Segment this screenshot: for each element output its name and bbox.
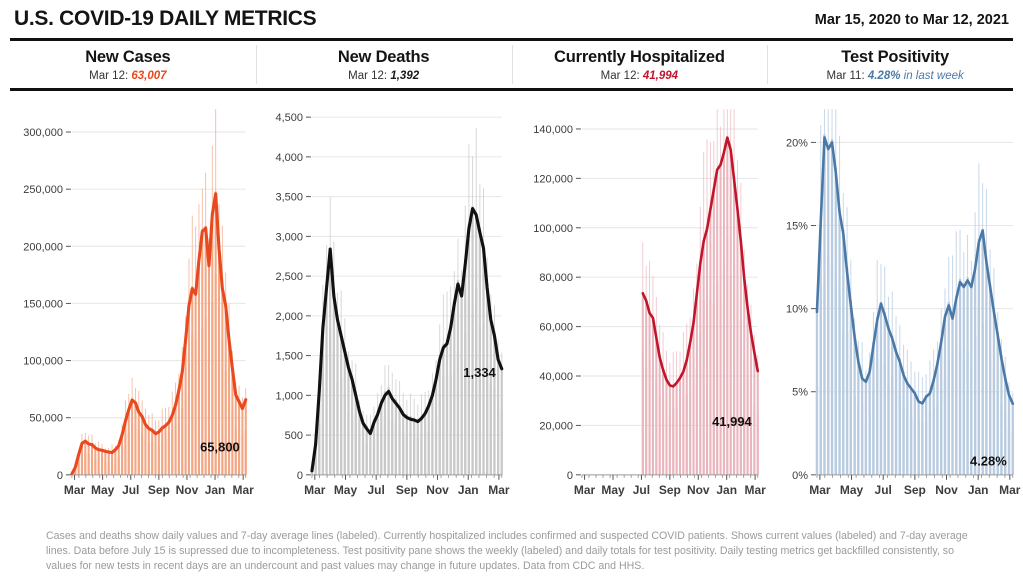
svg-text:4,500: 4,500: [275, 112, 302, 124]
svg-text:Jul: Jul: [367, 482, 384, 496]
svg-text:100,000: 100,000: [23, 355, 63, 367]
svg-text:May: May: [601, 482, 625, 496]
date-range-label: Mar 15, 2020 to Mar 12, 2021: [815, 12, 1009, 30]
panel-subtitle-date: Mar 12:: [601, 70, 640, 82]
svg-text:Mar: Mar: [744, 482, 766, 496]
svg-text:500: 500: [284, 430, 302, 442]
svg-text:Jul: Jul: [632, 482, 649, 496]
panel-header-test-positivity: Test Positivity Mar 11: 4.28% in last we…: [767, 41, 1023, 88]
svg-text:50,000: 50,000: [29, 412, 63, 424]
panel-title: Test Positivity: [767, 48, 1023, 67]
svg-text:0%: 0%: [792, 469, 808, 481]
svg-text:Sep: Sep: [148, 482, 170, 496]
chart-test-positivity[interactable]: 0%5%10%15%20%MarMayJulSepNovJanMar4.28%: [767, 91, 1023, 511]
svg-text:140,000: 140,000: [533, 123, 573, 135]
svg-text:Sep: Sep: [658, 482, 680, 496]
panel-header-new-cases: New Cases Mar 12: 63,007: [0, 41, 256, 88]
svg-text:41,994: 41,994: [712, 414, 752, 429]
svg-text:2,000: 2,000: [275, 310, 302, 322]
panel-title: Currently Hospitalized: [512, 48, 768, 67]
svg-text:4.28%: 4.28%: [970, 453, 1007, 468]
svg-text:Mar: Mar: [64, 482, 86, 496]
svg-text:0: 0: [566, 469, 572, 481]
svg-text:Nov: Nov: [935, 482, 958, 496]
svg-text:100,000: 100,000: [533, 222, 573, 234]
svg-text:Jan: Jan: [716, 482, 737, 496]
svg-text:Nov: Nov: [176, 482, 199, 496]
svg-text:Sep: Sep: [904, 482, 926, 496]
dashboard-root: U.S. COVID-19 DAILY METRICS Mar 15, 2020…: [0, 0, 1023, 578]
svg-text:Mar: Mar: [999, 482, 1021, 496]
svg-text:Jan: Jan: [968, 482, 989, 496]
panel-subtitle-suffix: in last week: [900, 70, 963, 82]
svg-text:Jan: Jan: [205, 482, 226, 496]
svg-text:Jul: Jul: [875, 482, 892, 496]
svg-text:Nov: Nov: [426, 482, 449, 496]
charts-row: 050,000100,000150,000200,000250,000300,0…: [0, 91, 1023, 511]
svg-text:Mar: Mar: [304, 482, 326, 496]
panel-header-currently-hospitalized: Currently Hospitalized Mar 12: 41,994: [512, 41, 768, 88]
svg-text:65,800: 65,800: [200, 439, 240, 454]
svg-text:20%: 20%: [786, 137, 808, 149]
chart-new-cases[interactable]: 050,000100,000150,000200,000250,000300,0…: [0, 91, 256, 511]
svg-text:4,000: 4,000: [275, 151, 302, 163]
panel-subtitle-value: 41,994: [643, 70, 678, 82]
svg-text:Jan: Jan: [458, 482, 479, 496]
svg-text:80,000: 80,000: [539, 272, 573, 284]
svg-text:Nov: Nov: [686, 482, 709, 496]
svg-text:0: 0: [57, 469, 63, 481]
svg-text:60,000: 60,000: [539, 321, 573, 333]
svg-text:150,000: 150,000: [23, 298, 63, 310]
svg-text:300,000: 300,000: [23, 127, 63, 139]
chart-new-deaths[interactable]: 05001,0001,5002,0002,5003,0003,5004,0004…: [256, 91, 512, 511]
panel-title: New Deaths: [256, 48, 512, 67]
panel-subtitle-value: 4.28%: [868, 70, 901, 82]
svg-text:3,000: 3,000: [275, 231, 302, 243]
panel-header-new-deaths: New Deaths Mar 12: 1,392: [256, 41, 512, 88]
panel-subtitle: Mar 12: 63,007: [0, 70, 256, 82]
panel-header-row: New Cases Mar 12: 63,007 New Deaths Mar …: [0, 41, 1023, 88]
svg-text:1,334: 1,334: [463, 364, 496, 379]
panel-subtitle-date: Mar 11:: [827, 70, 865, 82]
panel-subtitle-value: 63,007: [131, 70, 166, 82]
svg-text:120,000: 120,000: [533, 173, 573, 185]
svg-text:Mar: Mar: [573, 482, 595, 496]
svg-text:1,500: 1,500: [275, 350, 302, 362]
panel-subtitle-date: Mar 12:: [89, 70, 128, 82]
chart-currently-hospitalized[interactable]: 020,00040,00060,00080,000100,000120,0001…: [512, 91, 768, 511]
svg-text:200,000: 200,000: [23, 241, 63, 253]
panel-subtitle: Mar 11: 4.28% in last week: [767, 70, 1023, 82]
svg-text:15%: 15%: [786, 220, 808, 232]
page-title: U.S. COVID-19 DAILY METRICS: [14, 8, 316, 30]
panel-subtitle-date: Mar 12:: [348, 70, 387, 82]
svg-text:Jul: Jul: [122, 482, 139, 496]
panel-title: New Cases: [0, 48, 256, 67]
svg-text:2,500: 2,500: [275, 271, 302, 283]
svg-text:Mar: Mar: [488, 482, 510, 496]
footnote: Cases and deaths show daily values and 7…: [0, 529, 1023, 574]
svg-text:May: May: [91, 482, 115, 496]
dashboard-header: U.S. COVID-19 DAILY METRICS Mar 15, 2020…: [0, 0, 1023, 34]
panel-subtitle-value: 1,392: [390, 70, 419, 82]
svg-text:0: 0: [297, 469, 303, 481]
svg-text:1,000: 1,000: [275, 390, 302, 402]
svg-text:Sep: Sep: [396, 482, 418, 496]
panel-subtitle: Mar 12: 41,994: [512, 70, 768, 82]
svg-text:Mar: Mar: [233, 482, 255, 496]
svg-text:40,000: 40,000: [539, 371, 573, 383]
svg-text:5%: 5%: [792, 386, 808, 398]
svg-text:3,500: 3,500: [275, 191, 302, 203]
panel-subtitle: Mar 12: 1,392: [256, 70, 512, 82]
svg-text:Mar: Mar: [809, 482, 831, 496]
svg-text:250,000: 250,000: [23, 184, 63, 196]
svg-text:10%: 10%: [786, 303, 808, 315]
svg-text:May: May: [840, 482, 864, 496]
svg-text:May: May: [334, 482, 358, 496]
svg-text:20,000: 20,000: [539, 420, 573, 432]
